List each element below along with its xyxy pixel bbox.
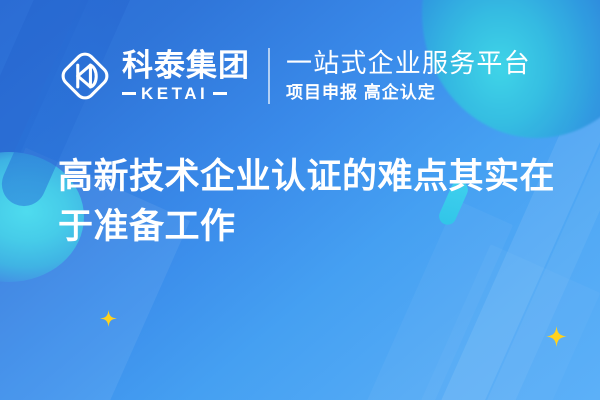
banner-header: 科泰集团 KETAI 一站式企业服务平台 项目申报 高企认定 — [56, 40, 531, 112]
sparkle-star-right — [546, 326, 567, 347]
logo-wordmark: 科泰集团 KETAI — [122, 50, 250, 102]
logo-company-en: KETAI — [141, 85, 208, 102]
logo-company-cn: 科泰集团 — [122, 50, 250, 82]
sparkle-star-left — [100, 310, 117, 327]
background-band-wide — [316, 244, 600, 400]
promo-banner: 科泰集团 KETAI 一站式企业服务平台 项目申报 高企认定 高新技术企业认证的… — [0, 0, 600, 400]
header-divider — [268, 48, 270, 104]
page-title: 高新技术企业认证的难点其实在于准备工作 — [58, 152, 558, 251]
ketai-diamond-monogram-icon — [56, 47, 114, 105]
tagline-sub: 项目申报 高企认定 — [286, 83, 531, 103]
logo-dash-right — [213, 92, 227, 95]
logo-dash-left — [122, 92, 136, 95]
logo-company-en-row: KETAI — [122, 85, 250, 102]
header-tagline: 一站式企业服务平台 项目申报 高企认定 — [286, 49, 531, 104]
tagline-main: 一站式企业服务平台 — [286, 49, 531, 78]
